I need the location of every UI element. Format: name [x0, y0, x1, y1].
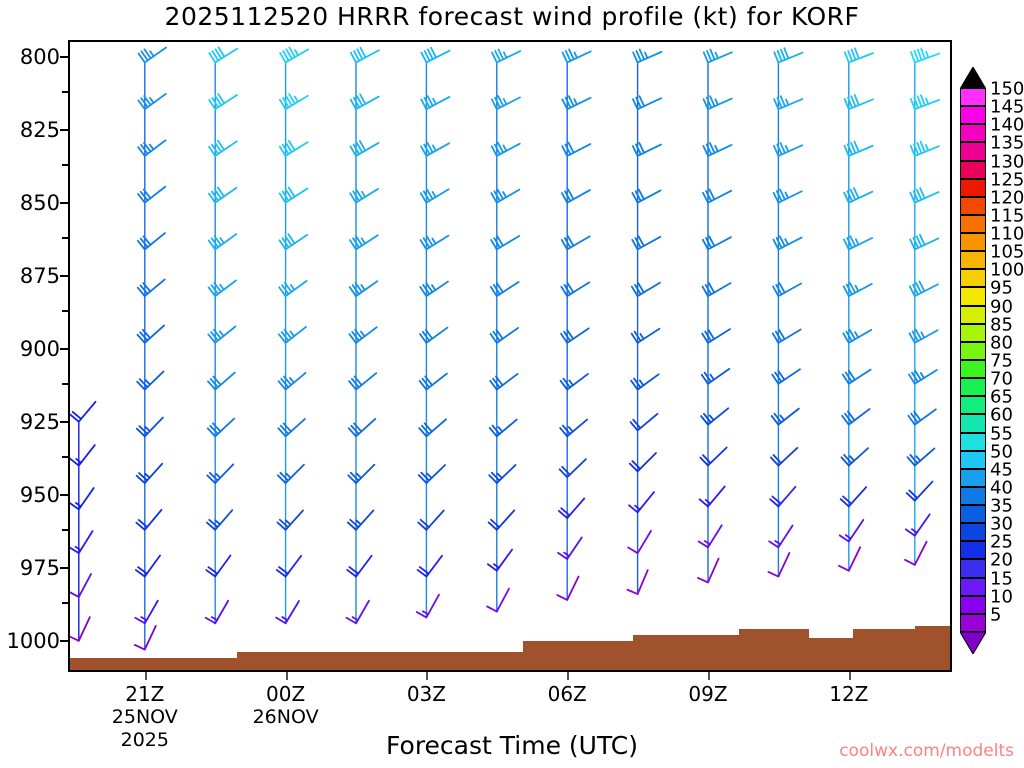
x-tick-label: 12Z	[829, 682, 868, 706]
colorbar-cell	[960, 233, 986, 251]
colorbar-cell	[960, 306, 986, 324]
y-tick-label: 850	[0, 191, 60, 215]
colorbar-cell	[960, 88, 986, 106]
barb-column	[627, 49, 661, 594]
y-tick-mark	[60, 129, 68, 131]
x-tick-label: 00Z	[266, 682, 305, 706]
colorbar-cell	[960, 251, 986, 269]
x-tick-mark	[145, 672, 147, 680]
y-tick-label: 900	[0, 337, 60, 361]
x-tick-mark	[849, 672, 851, 680]
colorbar-cell	[960, 324, 986, 342]
y-tick-mark	[60, 275, 68, 277]
terrain-segment	[70, 658, 237, 670]
plot-inner	[70, 42, 950, 670]
barb-column	[557, 49, 590, 599]
terrain-segment	[237, 652, 382, 670]
y-tick-mark	[60, 567, 68, 569]
chart-title: 2025112520 HRRR forecast wind profile (k…	[0, 2, 1024, 31]
x-tick-label: 03Z	[407, 682, 446, 706]
terrain-segment	[915, 626, 950, 670]
colorbar-bottom-cap	[960, 632, 986, 654]
colorbar-cell	[960, 215, 986, 233]
colorbar-cell	[960, 578, 986, 596]
terrain-segment	[563, 641, 633, 670]
barb-column	[839, 48, 873, 570]
barb-column	[768, 48, 802, 576]
y-tick-mark	[60, 494, 68, 496]
watermark: coolwx.com/modelts	[839, 741, 1014, 761]
barb-column	[346, 48, 378, 624]
y-tick-label: 800	[0, 45, 60, 69]
y-tick-mark	[60, 348, 68, 350]
colorbar-cell	[960, 559, 986, 577]
x-tick-mark	[567, 672, 569, 680]
terrain-segment	[633, 635, 739, 670]
y-tick-label: 875	[0, 264, 60, 288]
y-tick-label: 925	[0, 410, 60, 434]
barb-column	[206, 47, 238, 623]
x-tick-date-label: 26NOV	[253, 706, 319, 728]
terrain-segment	[853, 629, 915, 670]
terrain-segment	[382, 652, 523, 670]
colorbar-tick-label: 5	[990, 604, 1001, 625]
colorbar-cell	[960, 487, 986, 505]
y-tick-label: 1000	[0, 629, 60, 653]
barb-column	[417, 48, 450, 618]
barb-column	[698, 50, 732, 583]
colorbar-top-cap	[960, 67, 986, 89]
colorbar-cell	[960, 541, 986, 559]
colorbar-cell	[960, 124, 986, 142]
x-tick-label: 06Z	[548, 682, 587, 706]
y-tick-mark	[60, 56, 68, 58]
colorbar-cell	[960, 523, 986, 541]
terrain-segment	[809, 638, 853, 670]
wind-barb-field	[70, 42, 950, 670]
colorbar-cell	[960, 433, 986, 451]
barb-column	[135, 48, 166, 650]
colorbar-cell	[960, 360, 986, 378]
colorbar-cell	[960, 614, 986, 632]
x-tick-mark	[286, 672, 288, 680]
barb-column	[276, 48, 308, 624]
y-tick-mark	[60, 202, 68, 204]
x-tick-label: 09Z	[688, 682, 727, 706]
colorbar-cell	[960, 269, 986, 287]
x-tick-mark	[426, 672, 428, 680]
y-tick-label: 950	[0, 483, 60, 507]
y-tick-label: 975	[0, 556, 60, 580]
colorbar-cell	[960, 596, 986, 614]
y-tick-mark	[60, 640, 68, 642]
colorbar-cell	[960, 287, 986, 305]
colorbar-cell	[960, 197, 986, 215]
y-tick-label: 825	[0, 118, 60, 142]
terrain-segment	[739, 629, 809, 670]
colorbar-cell	[960, 469, 986, 487]
colorbar: 1501451401351301251201151101051009590858…	[960, 88, 986, 632]
colorbar-cell	[960, 451, 986, 469]
y-tick-mark	[60, 421, 68, 423]
colorbar-cell	[960, 179, 986, 197]
plot-area	[68, 40, 952, 672]
terrain-segment	[523, 641, 563, 670]
colorbar-cell	[960, 414, 986, 432]
colorbar-cell	[960, 161, 986, 179]
barb-column	[70, 402, 96, 641]
barb-column	[905, 48, 939, 564]
colorbar-cell	[960, 505, 986, 523]
colorbar-cell	[960, 342, 986, 360]
colorbar-cell	[960, 142, 986, 160]
x-tick-date-label: 25NOV	[112, 706, 178, 728]
colorbar-cell	[960, 378, 986, 396]
x-tick-label: 21Z	[125, 682, 164, 706]
colorbar-cell	[960, 106, 986, 124]
x-tick-mark	[708, 672, 710, 680]
colorbar-cell	[960, 396, 986, 414]
barb-column	[487, 49, 520, 611]
